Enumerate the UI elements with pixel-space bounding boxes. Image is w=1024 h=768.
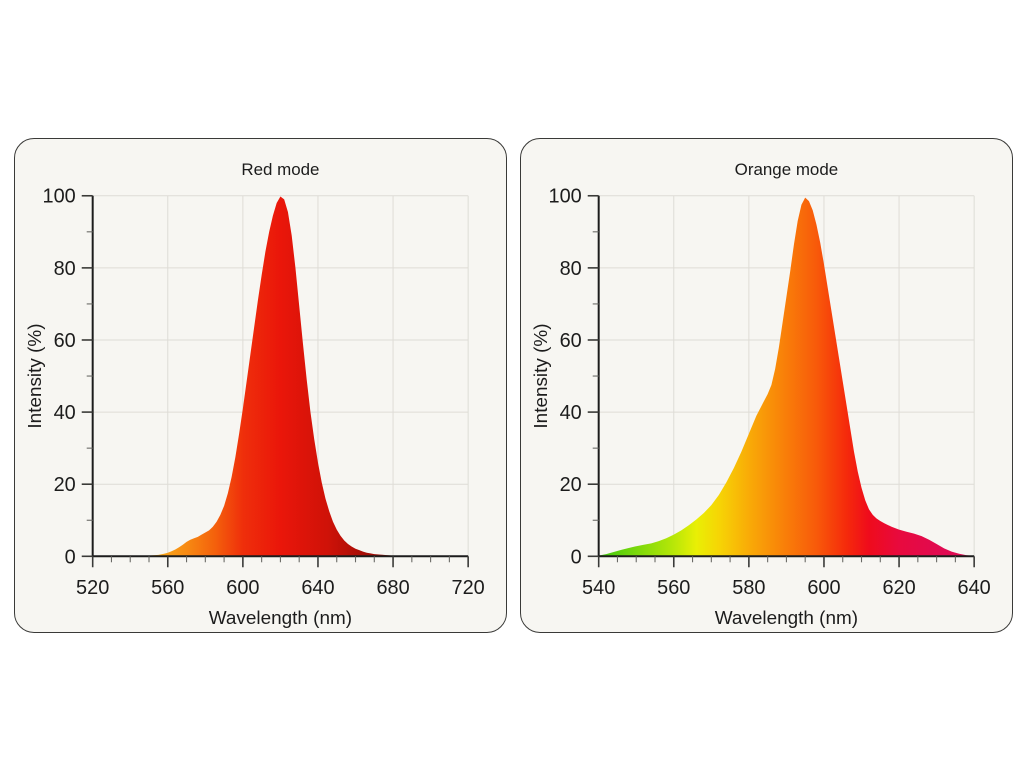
spectrum-area <box>599 198 974 557</box>
chart-title: Orange mode <box>735 160 838 179</box>
x-tick-label: 580 <box>732 577 765 599</box>
x-tick-label: 560 <box>657 577 690 599</box>
x-tick-label: 560 <box>151 577 184 599</box>
x-axis: 520560600640680720Wavelength (nm) <box>76 556 485 629</box>
y-axis: 020406080100Intensity (%) <box>531 186 599 569</box>
y-axis-title: Intensity (%) <box>25 323 46 428</box>
figure-root: 520560600640680720Wavelength (nm)0204060… <box>0 0 1024 768</box>
chart-orange-mode: 540560580600620640Wavelength (nm)0204060… <box>521 139 1012 632</box>
x-tick-label: 600 <box>226 577 259 599</box>
chart-red-mode: 520560600640680720Wavelength (nm)0204060… <box>15 139 506 632</box>
y-tick-label: 40 <box>560 402 582 424</box>
x-axis: 540560580600620640Wavelength (nm) <box>582 556 991 629</box>
y-axis: 020406080100Intensity (%) <box>25 186 93 569</box>
x-tick-label: 640 <box>301 577 334 599</box>
y-tick-label: 80 <box>54 258 76 280</box>
x-tick-label: 620 <box>882 577 915 599</box>
y-tick-label: 100 <box>43 186 76 208</box>
x-tick-label: 540 <box>582 577 615 599</box>
y-tick-label: 20 <box>54 474 76 496</box>
y-tick-label: 0 <box>65 546 76 568</box>
y-tick-label: 100 <box>549 186 582 208</box>
panel-card-red-mode: 520560600640680720Wavelength (nm)0204060… <box>14 138 507 633</box>
spectrum-area <box>93 196 468 556</box>
y-tick-label: 40 <box>54 402 76 424</box>
y-tick-label: 60 <box>54 330 76 352</box>
x-tick-label: 680 <box>376 577 409 599</box>
x-tick-label: 600 <box>807 577 840 599</box>
x-axis-title: Wavelength (nm) <box>209 608 352 629</box>
chart-title: Red mode <box>241 160 319 179</box>
y-axis-title: Intensity (%) <box>531 323 552 428</box>
x-tick-label: 520 <box>76 577 109 599</box>
y-tick-label: 60 <box>560 330 582 352</box>
y-tick-label: 20 <box>560 474 582 496</box>
x-tick-label: 720 <box>452 577 485 599</box>
x-tick-label: 640 <box>958 577 991 599</box>
panel-card-orange-mode: 540560580600620640Wavelength (nm)0204060… <box>520 138 1013 633</box>
y-tick-label: 0 <box>571 546 582 568</box>
y-tick-label: 80 <box>560 258 582 280</box>
x-axis-title: Wavelength (nm) <box>715 608 858 629</box>
